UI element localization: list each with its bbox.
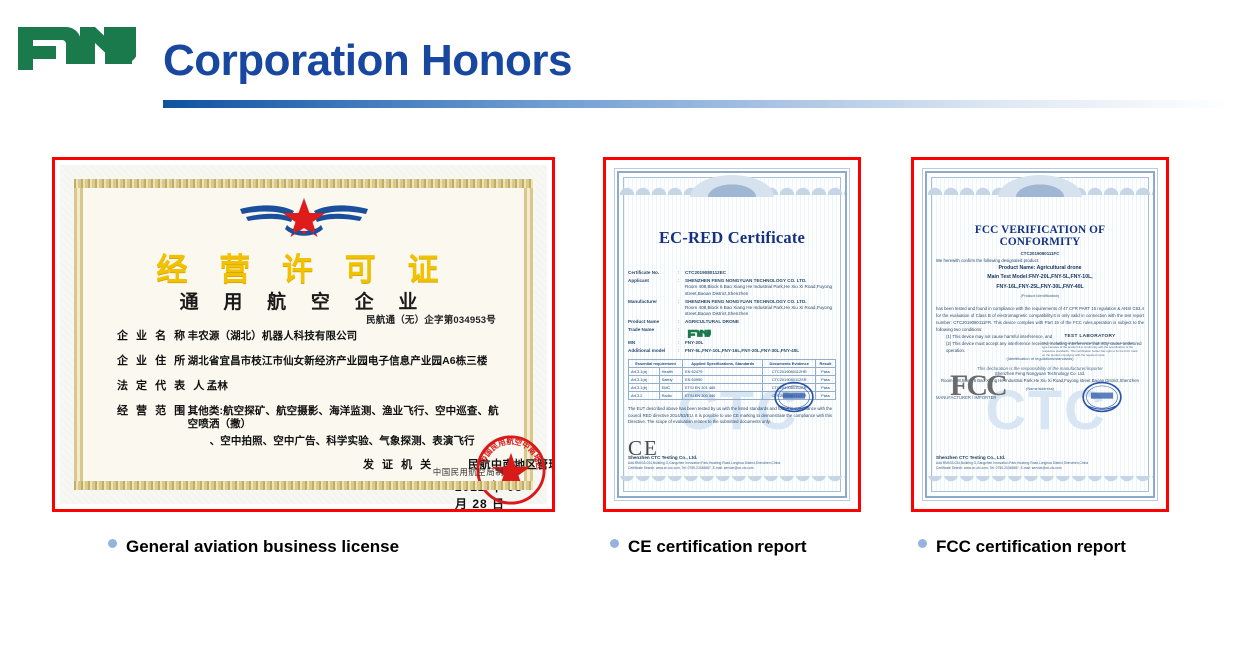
- table-cell: Radio: [659, 392, 682, 400]
- field-value-main: SHENZHEN FENG NONGYUAN TECHNOLOGY CO. LT…: [685, 278, 807, 283]
- caption-label: FCC certification report: [936, 537, 1126, 557]
- certificate-subtitle-cn: 通 用 航 空 企 业: [83, 287, 524, 314]
- certificate-number-cn: 民航通（无）企字第034953号: [366, 312, 496, 326]
- page-title: Corporation Honors: [163, 33, 572, 89]
- confirm-line: We herewith confirm the following design…: [936, 258, 1144, 263]
- field-label: Additional model: [628, 348, 678, 354]
- field-label: 企 业 名 称: [117, 330, 188, 343]
- bullet-icon: [610, 539, 619, 548]
- lab-address: Add:RM033-034,Building G,Gangzhen Innova…: [936, 461, 1144, 466]
- field-value: 其他类:航空探矿、航空摄影、海洋监测、渔业飞行、空中巡查、航空喷洒（撒） 、空中…: [188, 405, 502, 448]
- certificate-field-row: 企 业 住 所 湖北省宜昌市枝江市仙女新经济产业园电子信息产业园A6栋三楼: [117, 355, 502, 368]
- blue-round-stamp-icon: [766, 377, 822, 417]
- certificate-card-fcc[interactable]: CTC FCC VERIFICATION OF CONFORMITY CTC20…: [911, 157, 1169, 512]
- table-cell: EMC: [659, 384, 682, 392]
- caption-label: General aviation business license: [126, 537, 399, 557]
- field-value: AGRICULTURAL DRONE: [685, 319, 836, 325]
- certificate-field-row: Certificate No.: CTC2019080112EC: [628, 270, 836, 276]
- fny-logo-icon: [16, 18, 136, 70]
- table-header-cell: Documents Evidence: [763, 360, 816, 368]
- table-cell: ETSI EN 300 440: [683, 392, 763, 400]
- lab-footer: Shenzhen CTC Testing Co., Ltd. Add:RM033…: [936, 455, 1144, 471]
- field-label: Product Name: [628, 319, 678, 325]
- field-label: 经 营 范 围: [117, 405, 188, 448]
- table-cell: Art.3.2: [629, 392, 660, 400]
- certificate-content: FCC VERIFICATION OF CONFORMITY CTC201908…: [936, 198, 1144, 475]
- scallop-bottom-ornament: [619, 476, 845, 496]
- field-value: FNY-5L,FNY-10L,FNY-16L,FNY-20L,FNY-30L,F…: [685, 348, 836, 354]
- field-value-sub: Room 408,Block 6 Bao Xiang He Industrial…: [685, 284, 836, 297]
- caac-winged-star-emblem-icon: [239, 196, 369, 238]
- certificate-field-list: Certificate No.: CTC2019080112EC Applica…: [628, 270, 836, 354]
- lab-contact: Certificate Search: www.cn-ctc.com, Tel:…: [936, 466, 1144, 471]
- field-value: 孟林: [207, 380, 228, 393]
- certificate-field-row: 经 营 范 围 其他类:航空探矿、航空摄影、海洋监测、渔业飞行、空中巡查、航空喷…: [117, 405, 502, 448]
- field-colon: :: [678, 319, 685, 325]
- lab-footer: Shenzhen CTC Testing Co., Ltd. Add:RM033…: [628, 455, 836, 471]
- certificate-content: EC-RED Certificate Certificate No.: CTC2…: [628, 198, 836, 475]
- caption-label: CE certification report: [628, 537, 807, 557]
- gold-greek-key-frame: 经 营 许 可 证 通 用 航 空 企 业 民航通（无）企字第034953号 企…: [74, 179, 533, 490]
- product-name: Product Name: Agricultural drone: [936, 265, 1144, 272]
- rosette-ornament: [690, 175, 774, 197]
- certificate-card-ce-red[interactable]: CTC EC-RED Certificate Certificate No.: …: [603, 157, 861, 512]
- table-cell: CTC2019080112HR: [763, 368, 816, 376]
- certificate-field-row: 企 业 名 称 丰农源（湖北）机器人科技有限公司: [117, 330, 502, 343]
- table-header-cell: Applied Specifications, Standards: [683, 360, 763, 368]
- fcc-mark-icon: FCC: [950, 371, 1006, 401]
- table-cell: EN 60950: [683, 376, 763, 384]
- field-colon: :: [678, 348, 685, 354]
- rosette-ornament: [998, 175, 1082, 197]
- table-cell: Pass: [815, 368, 835, 376]
- certificate-sheet: CTC EC-RED Certificate Certificate No.: …: [610, 164, 854, 505]
- compliance-body: has been tested and found in compliance …: [936, 305, 1144, 333]
- table-cell: Art.3.1(a): [629, 376, 660, 384]
- table-cell: Art.3.1(a): [629, 368, 660, 376]
- test-laboratory-block: TEST LABORATORY The only results of test…: [1042, 334, 1138, 357]
- table-header-cell: Result: [815, 360, 835, 368]
- field-value: SHENZHEN FENG NONGYUAN TECHNOLOGY CO. LT…: [685, 278, 836, 297]
- model-line-2: FNY-16L,FNY-25L,FNY-30L,FNY-40L: [936, 284, 1144, 291]
- lab-contact: Certificate Search: www.cn-ctc.com, Tel:…: [628, 466, 836, 471]
- certificate-field-row: MN: FNY-20L: [628, 340, 836, 346]
- certificate-field-row: Manufacturer: SHENZHEN FENG NONGYUAN TEC…: [628, 299, 836, 318]
- field-value: 湖北省宜昌市枝江市仙女新经济产业园电子信息产业园A6栋三楼: [188, 355, 488, 368]
- title-underline-rule: [163, 100, 1228, 108]
- field-value: SHENZHEN FENG NONGYUAN TECHNOLOGY CO. LT…: [685, 299, 836, 318]
- field-label: MN: [628, 340, 678, 346]
- caption-ce-certification-report: CE certification report: [610, 537, 807, 557]
- field-value-main: SHENZHEN FENG NONGYUAN TECHNOLOGY CO. LT…: [685, 299, 807, 304]
- field-label: Trade Name: [628, 327, 678, 338]
- field-colon: :: [678, 340, 685, 346]
- field-colon: :: [678, 270, 685, 276]
- certificate-title: FCC VERIFICATION OF CONFORMITY: [936, 224, 1144, 248]
- test-laboratory-heading: TEST LABORATORY: [1042, 334, 1138, 339]
- bullet-icon: [108, 539, 117, 548]
- fny-logo-icon: [685, 328, 713, 338]
- table-cell: EN 62479: [683, 368, 763, 376]
- field-value: FNY-20L: [685, 340, 836, 346]
- certificate-field-row: Additional model: FNY-5L,FNY-10L,FNY-16L…: [628, 348, 836, 354]
- model-line-1: Main Test Model:FNY-20L,FNY-5L,FNY-10L,: [936, 274, 1144, 281]
- table-row: Art.3.1(a) Health EN 62479 CTC2019080112…: [629, 368, 836, 376]
- certificate-sheet: 经 营 许 可 证 通 用 航 空 企 业 民航通（无）企字第034953号 企…: [60, 165, 547, 504]
- caption-general-aviation-license: General aviation business license: [108, 537, 399, 557]
- field-colon: :: [678, 327, 685, 338]
- field-value-line1: 其他类:航空探矿、航空摄影、海洋监测、渔业飞行、空中巡查、航空喷洒（撒）: [188, 405, 499, 430]
- field-value-line2: 、空中拍照、空中广告、科学实验、气象探测、表演飞行: [188, 435, 502, 448]
- bullet-icon: [918, 539, 927, 548]
- issuer-label: 发 证 机 关: [363, 456, 434, 472]
- field-value-sub: Room 408,Block 6 Bao Xiang He Industrial…: [685, 305, 836, 318]
- field-colon: :: [678, 278, 685, 297]
- table-cell: Safety: [659, 376, 682, 384]
- certificate-number: CTC2019080111FC: [936, 251, 1144, 256]
- table-cell: Health: [659, 368, 682, 376]
- lab-name: Shenzhen CTC Testing Co., Ltd.: [936, 455, 1144, 460]
- field-label: Applicant: [628, 278, 678, 297]
- certificate-field-list: 企 业 名 称 丰农源（湖北）机器人科技有限公司 企 业 住 所 湖北省宜昌市枝…: [117, 330, 502, 460]
- scallop-bottom-ornament: [927, 476, 1153, 496]
- field-value: CTC2019080112EC: [685, 270, 836, 276]
- certificate-footer-cn: 中国民用航空局制: [433, 466, 504, 478]
- field-value: 丰农源（湖北）机器人科技有限公司: [188, 330, 358, 343]
- field-label: Manufacturer: [628, 299, 678, 318]
- blue-round-stamp-icon: [1074, 377, 1130, 417]
- field-value-trade-logo: [685, 327, 836, 338]
- field-label: 法 定 代 表 人: [117, 380, 207, 393]
- certificate-field-row: 法 定 代 表 人 孟林: [117, 380, 502, 393]
- certificate-field-row: Applicant: SHENZHEN FENG NONGYUAN TECHNO…: [628, 278, 836, 297]
- product-identification-note: (Product identification): [936, 293, 1144, 298]
- field-colon: :: [678, 299, 685, 318]
- certificate-sheet: CTC FCC VERIFICATION OF CONFORMITY CTC20…: [918, 164, 1162, 505]
- lab-address: Add:RM033-034,Building G,Gangzhen Innova…: [628, 461, 836, 466]
- slide-root: Corporation Honors: [0, 0, 1247, 670]
- table-header-row: Essential requirement Applied Specificat…: [629, 360, 836, 368]
- certificate-field-row: Trade Name:: [628, 327, 836, 338]
- lab-name: Shenzhen CTC Testing Co., Ltd.: [628, 455, 836, 460]
- table-header-cell: Essential requirement: [629, 360, 683, 368]
- certificate-field-row: Product Name: AGRICULTURAL DRONE: [628, 319, 836, 325]
- field-label: Certificate No.: [628, 270, 678, 276]
- table-cell: ETSI EN 301 489: [683, 384, 763, 392]
- caption-fcc-certification-report: FCC certification report: [918, 537, 1126, 557]
- certificate-title-cn: 经 营 许 可 证: [83, 244, 524, 289]
- certificate-card-general-aviation-license[interactable]: 经 营 许 可 证 通 用 航 空 企 业 民航通（无）企字第034953号 企…: [52, 157, 555, 512]
- test-laboratory-text: The only results of test that was carrie…: [1042, 341, 1138, 357]
- field-label: 企 业 住 所: [117, 355, 188, 368]
- certificate-title: EC-RED Certificate: [628, 228, 836, 248]
- table-cell: Art.3.1(b): [629, 384, 660, 392]
